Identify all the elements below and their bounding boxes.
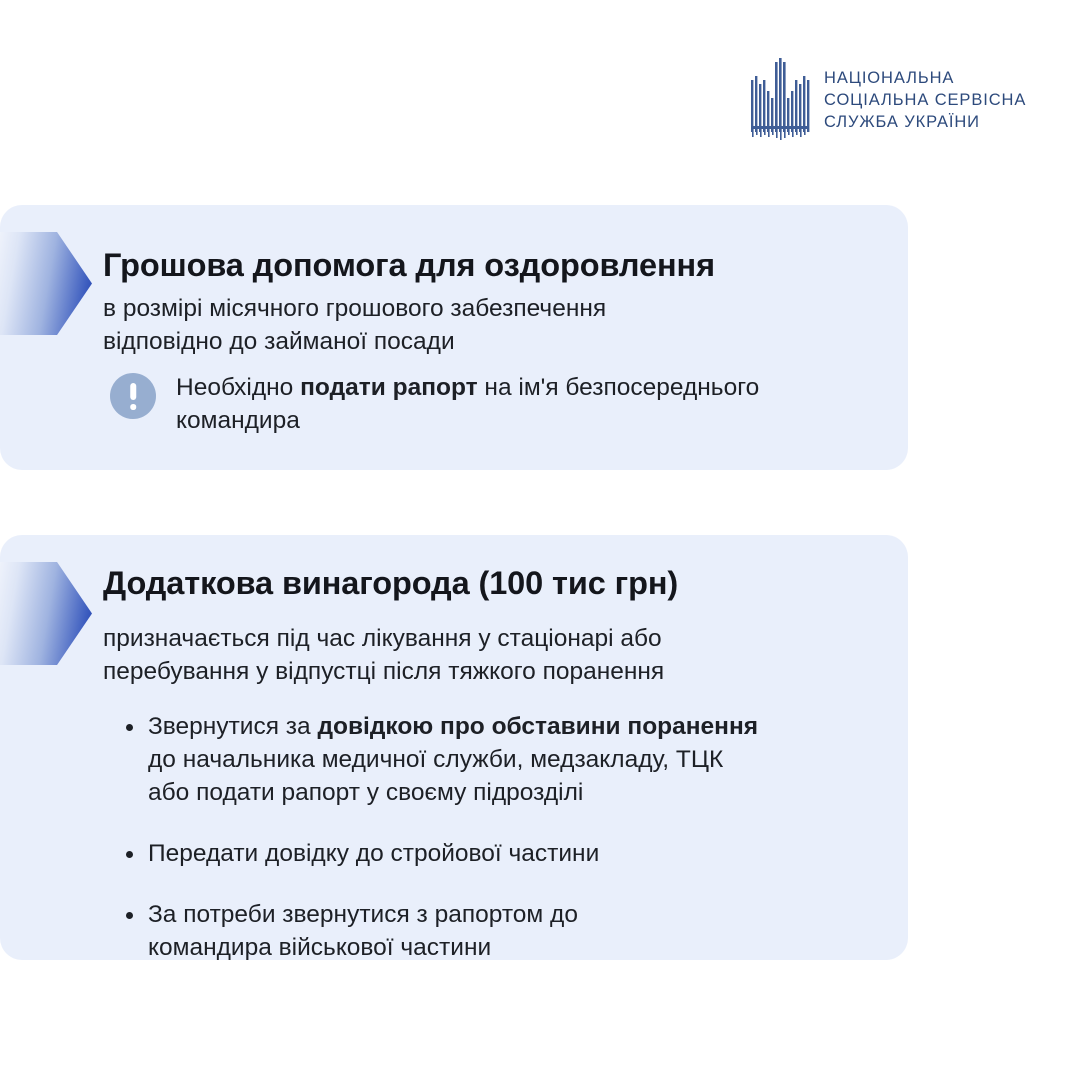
bullet-1-text-plain: Звернутися за xyxy=(148,713,317,740)
card-2-title: Додаткова винагорода (100 тис грн) xyxy=(103,563,678,603)
bullet-1-line-2: до начальника медичної служби, медзаклад… xyxy=(148,743,880,776)
logo-line-1: НАЦІОНАЛЬНА xyxy=(824,68,1026,88)
card-additional-reward: Додаткова винагорода (100 тис грн) призн… xyxy=(0,535,908,960)
card-2-subtitle-line-1: призначається під час лікування у стаціо… xyxy=(103,622,664,655)
list-item: Звернутися за довідкою про обставини пор… xyxy=(120,710,880,809)
infographic-page: НАЦІОНАЛЬНА СОЦІАЛЬНА СЕРВІСНА СЛУЖБА УК… xyxy=(0,0,1080,1080)
nssu-logo: НАЦІОНАЛЬНА СОЦІАЛЬНА СЕРВІСНА СЛУЖБА УК… xyxy=(750,58,1026,140)
card-2-subtitle: призначається під час лікування у стаціо… xyxy=(103,622,664,688)
note-text-bold: подати рапорт xyxy=(300,374,477,401)
card-1-note-text: Необхідно подати рапорт на ім'я безпосер… xyxy=(176,371,876,437)
logo-wordmark: НАЦІОНАЛЬНА СОЦІАЛЬНА СЕРВІСНА СЛУЖБА УК… xyxy=(824,66,1026,132)
card-1-title: Грошова допомога для оздоровлення xyxy=(103,245,715,285)
bullet-2-line-1: Передати довідку до стройової частини xyxy=(148,837,880,870)
bullet-1-line-1: Звернутися за довідкою про обставини пор… xyxy=(148,710,880,743)
card-1-subtitle-line-2: відповідно до займаної посади xyxy=(103,325,606,358)
list-item: Передати довідку до стройової частини xyxy=(120,837,880,870)
exclamation-circle-icon xyxy=(110,373,156,419)
card-2-bullet-list: Звернутися за довідкою про обставини пор… xyxy=(120,710,880,964)
list-item: За потреби звернутися з рапортом до кома… xyxy=(120,898,880,964)
chevron-right-arrow-icon xyxy=(0,562,92,665)
bullet-3-line-2: командира військової частини xyxy=(148,931,880,964)
card-monetary-aid: Грошова допомога для оздоровлення в розм… xyxy=(0,205,908,470)
card-1-subtitle-line-1: в розмірі місячного грошового забезпечен… xyxy=(103,292,606,325)
logo-line-2: СОЦІАЛЬНА СЕРВІСНА xyxy=(824,90,1026,110)
card-1-subtitle: в розмірі місячного грошового забезпечен… xyxy=(103,292,606,358)
card-2-subtitle-line-2: перебування у відпустці після тяжкого по… xyxy=(103,655,664,688)
chevron-right-arrow-icon xyxy=(0,232,92,335)
bullet-1-line-3: або подати рапорт у своєму підрозділі xyxy=(148,776,880,809)
bullet-3-line-1: За потреби звернутися з рапортом до xyxy=(148,898,880,931)
bullet-1-text-bold: довідкою про обставини поранення xyxy=(317,713,758,740)
note-text-plain: Необхідно xyxy=(176,374,300,401)
card-1-note: Необхідно подати рапорт на ім'я безпосер… xyxy=(110,371,876,437)
nssu-trident-logo-icon xyxy=(750,58,810,140)
logo-line-3: СЛУЖБА УКРАЇНИ xyxy=(824,112,1026,132)
